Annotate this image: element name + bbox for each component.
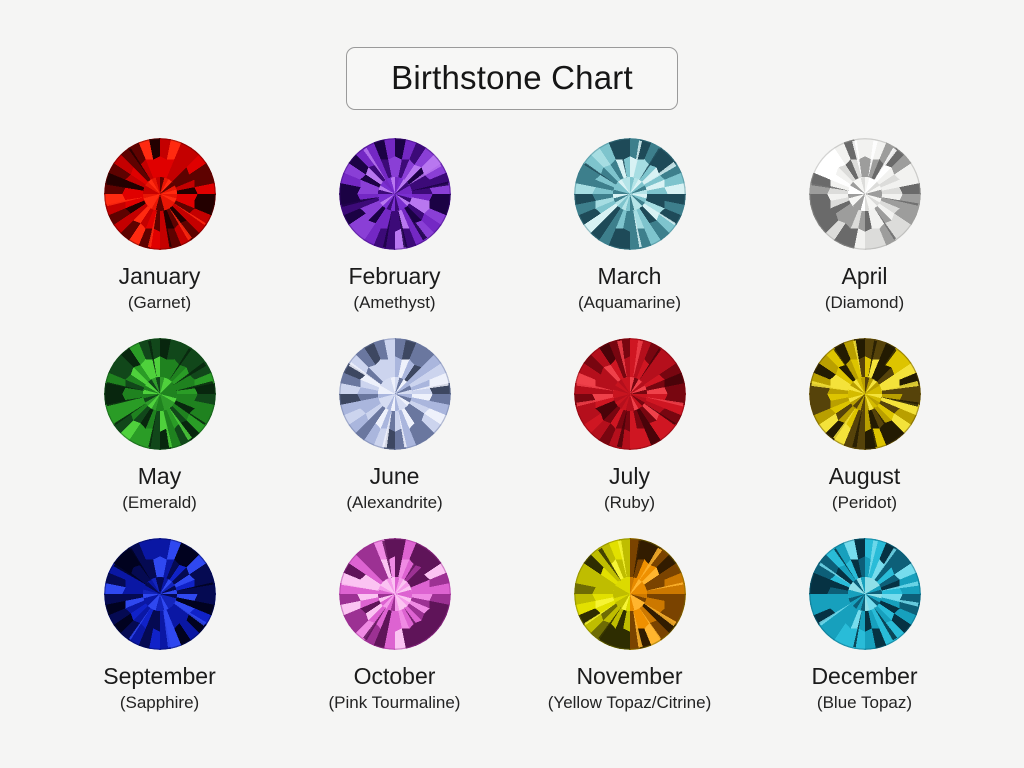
gem-september [103, 537, 217, 651]
stone-label: (Peridot) [832, 494, 897, 512]
birthstone-cell-august[interactable]: August(Peridot) [747, 337, 982, 537]
round-brilliant-gem-icon [103, 137, 217, 251]
birthstone-cell-july[interactable]: July(Ruby) [512, 337, 747, 537]
round-brilliant-gem-icon [338, 137, 452, 251]
page-title: Birthstone Chart [391, 61, 633, 94]
round-brilliant-gem-split-icon [573, 537, 687, 651]
month-label: May [138, 464, 181, 488]
gem-november [573, 537, 687, 651]
birthstone-cell-january[interactable]: January(Garnet) [42, 137, 277, 337]
stone-label: (Pink Tourmaline) [329, 694, 461, 712]
birthstone-cell-march[interactable]: March(Aquamarine) [512, 137, 747, 337]
stone-label: (Aquamarine) [578, 294, 681, 312]
month-label: June [370, 464, 420, 488]
stone-label: (Blue Topaz) [817, 694, 912, 712]
round-brilliant-gem-icon [808, 537, 922, 651]
gem-july [573, 337, 687, 451]
title-box: Birthstone Chart [346, 47, 678, 110]
gem-may [103, 337, 217, 451]
month-label: March [598, 264, 662, 288]
gem-january [103, 137, 217, 251]
birthstone-cell-october[interactable]: October(Pink Tourmaline) [277, 537, 512, 737]
month-label: July [609, 464, 650, 488]
stone-label: (Diamond) [825, 294, 904, 312]
round-brilliant-gem-icon [338, 537, 452, 651]
round-brilliant-gem-icon [573, 337, 687, 451]
gem-december [808, 537, 922, 651]
birthstone-cell-december[interactable]: December(Blue Topaz) [747, 537, 982, 737]
round-brilliant-gem-icon [103, 537, 217, 651]
gem-june [338, 337, 452, 451]
birthstone-cell-november[interactable]: November(Yellow Topaz/Citrine) [512, 537, 747, 737]
round-brilliant-gem-icon [808, 337, 922, 451]
gem-april [808, 137, 922, 251]
stone-label: (Ruby) [604, 494, 655, 512]
month-label: November [576, 664, 682, 688]
birthstone-cell-february[interactable]: February(Amethyst) [277, 137, 512, 337]
gem-october [338, 537, 452, 651]
chart-header: Birthstone Chart [0, 0, 1024, 110]
stone-label: (Amethyst) [353, 294, 435, 312]
month-label: December [811, 664, 917, 688]
birthstone-cell-may[interactable]: May(Emerald) [42, 337, 277, 537]
stone-label: (Emerald) [122, 494, 197, 512]
round-brilliant-gem-icon [573, 137, 687, 251]
round-brilliant-gem-icon [103, 337, 217, 451]
stone-label: (Alexandrite) [346, 494, 442, 512]
gem-february [338, 137, 452, 251]
gem-august [808, 337, 922, 451]
month-label: April [841, 264, 887, 288]
birthstone-cell-september[interactable]: September(Sapphire) [42, 537, 277, 737]
month-label: September [103, 664, 216, 688]
stone-label: (Garnet) [128, 294, 191, 312]
month-label: February [348, 264, 440, 288]
birthstone-cell-april[interactable]: April(Diamond) [747, 137, 982, 337]
stone-label: (Yellow Topaz/Citrine) [548, 694, 711, 712]
gem-march [573, 137, 687, 251]
birthstone-grid: January(Garnet)February(Amethyst)March(A… [0, 137, 1024, 737]
stone-label: (Sapphire) [120, 694, 199, 712]
birthstone-chart-page: { "page": { "background_color": "#f5f5f4… [0, 0, 1024, 768]
month-label: October [354, 664, 436, 688]
round-brilliant-gem-icon [338, 337, 452, 451]
month-label: January [119, 264, 201, 288]
round-brilliant-gem-icon [808, 137, 922, 251]
birthstone-cell-june[interactable]: June(Alexandrite) [277, 337, 512, 537]
month-label: August [829, 464, 901, 488]
